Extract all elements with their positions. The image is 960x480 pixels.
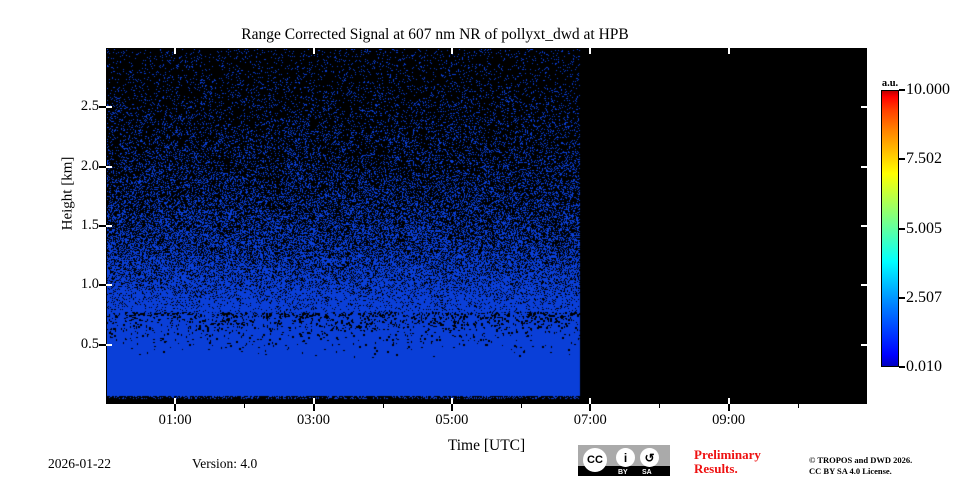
y-tick-mark-right xyxy=(861,284,867,286)
cc-by-person-icon: i xyxy=(616,448,635,467)
x-tick-label: 01:00 xyxy=(135,412,215,429)
x-tick-mark-top xyxy=(174,48,176,54)
x-tick-mark-inner xyxy=(589,398,591,404)
y-tick-mark-right xyxy=(861,225,867,227)
preliminary-line-1: Preliminary xyxy=(694,448,804,462)
y-tick-mark xyxy=(99,225,106,227)
x-tick-mark-inner xyxy=(313,398,315,404)
copyright-line-2: CC BY SA 4.0 License. xyxy=(809,466,959,477)
y-tick-label: 0.5 xyxy=(57,337,99,352)
y-axis-title: Height [km] xyxy=(60,114,77,274)
page-title: Range Corrected Signal at 607 nm NR of p… xyxy=(0,26,870,44)
y-tick-mark-inner xyxy=(106,106,112,108)
colorbar-tick-mark xyxy=(899,89,905,91)
x-tick-label: 03:00 xyxy=(274,412,354,429)
x-minor-tick-mark xyxy=(659,404,660,408)
y-tick-label-wrap: 2.5 xyxy=(46,99,99,114)
x-tick-mark xyxy=(589,404,591,411)
plot-axes[interactable] xyxy=(106,48,867,404)
cc-by-label: BY xyxy=(618,469,628,476)
colorbar-tick-label: 0.010 xyxy=(906,359,960,375)
heatmap-data-area[interactable] xyxy=(107,49,867,404)
y-tick-mark-inner xyxy=(106,225,112,227)
x-tick-mark-top xyxy=(451,48,453,54)
x-tick-mark-top xyxy=(313,48,315,54)
y-tick-label: 2.5 xyxy=(57,99,99,114)
colorbar-tick-mark xyxy=(899,297,905,299)
x-minor-tick-mark xyxy=(383,404,384,408)
colorbar[interactable] xyxy=(881,90,899,367)
x-tick-label: 05:00 xyxy=(412,412,492,429)
y-tick-label-wrap: 0.5 xyxy=(46,337,99,352)
colorbar-unit-label: a.u. xyxy=(872,78,908,89)
y-tick-mark-inner xyxy=(106,284,112,286)
x-tick-mark xyxy=(313,404,315,411)
y-tick-mark-right xyxy=(861,106,867,108)
x-minor-tick-mark xyxy=(798,404,799,408)
x-tick-mark-inner xyxy=(451,398,453,404)
colorbar-tick-label: 10.000 xyxy=(906,82,960,98)
y-tick-label: 1.0 xyxy=(57,277,99,292)
x-tick-label: 09:00 xyxy=(689,412,769,429)
copyright-line-1: © TROPOS and DWD 2026. xyxy=(809,455,959,466)
y-tick-mark xyxy=(99,284,106,286)
x-tick-mark xyxy=(174,404,176,411)
preliminary-line-2: Results. xyxy=(694,462,804,476)
y-tick-mark xyxy=(99,344,106,346)
y-tick-mark-inner xyxy=(106,166,112,168)
cc-logo-icon: CC xyxy=(583,448,607,472)
colorbar-tick-mark xyxy=(899,158,905,160)
y-tick-mark-right xyxy=(861,344,867,346)
x-tick-label: 07:00 xyxy=(550,412,630,429)
colorbar-tick-label: 5.005 xyxy=(906,221,960,237)
cc-sa-label: SA xyxy=(642,469,652,476)
y-tick-mark-right xyxy=(861,166,867,168)
x-tick-mark-top xyxy=(728,48,730,54)
x-minor-tick-mark xyxy=(521,404,522,408)
y-tick-mark xyxy=(99,106,106,108)
copyright-notice: © TROPOS and DWD 2026. CC BY SA 4.0 Lice… xyxy=(809,455,959,476)
x-tick-mark-inner xyxy=(728,398,730,404)
x-tick-mark xyxy=(451,404,453,411)
footer-version: Version: 4.0 xyxy=(192,456,257,472)
colorbar-tick-label: 2.507 xyxy=(906,290,960,306)
y-tick-mark-inner xyxy=(106,344,112,346)
footer-date: 2026-01-22 xyxy=(48,456,111,472)
x-tick-mark xyxy=(728,404,730,411)
y-tick-mark xyxy=(99,166,106,168)
colorbar-tick-mark xyxy=(899,228,905,230)
y-tick-label-wrap: 1.0 xyxy=(46,277,99,292)
x-minor-tick-mark xyxy=(244,404,245,408)
lidar-quicklook-figure: Range Corrected Signal at 607 nm NR of p… xyxy=(0,0,960,480)
colorbar-tick-label: 7.502 xyxy=(906,151,960,167)
preliminary-results-notice: Preliminary Results. xyxy=(694,448,804,476)
x-tick-mark-top xyxy=(589,48,591,54)
x-tick-mark-inner xyxy=(174,398,176,404)
colorbar-tick-mark xyxy=(899,366,905,368)
creative-commons-badge[interactable]: CC i ↺ BY SA xyxy=(578,445,670,476)
cc-sa-share-alike-icon: ↺ xyxy=(640,448,659,467)
